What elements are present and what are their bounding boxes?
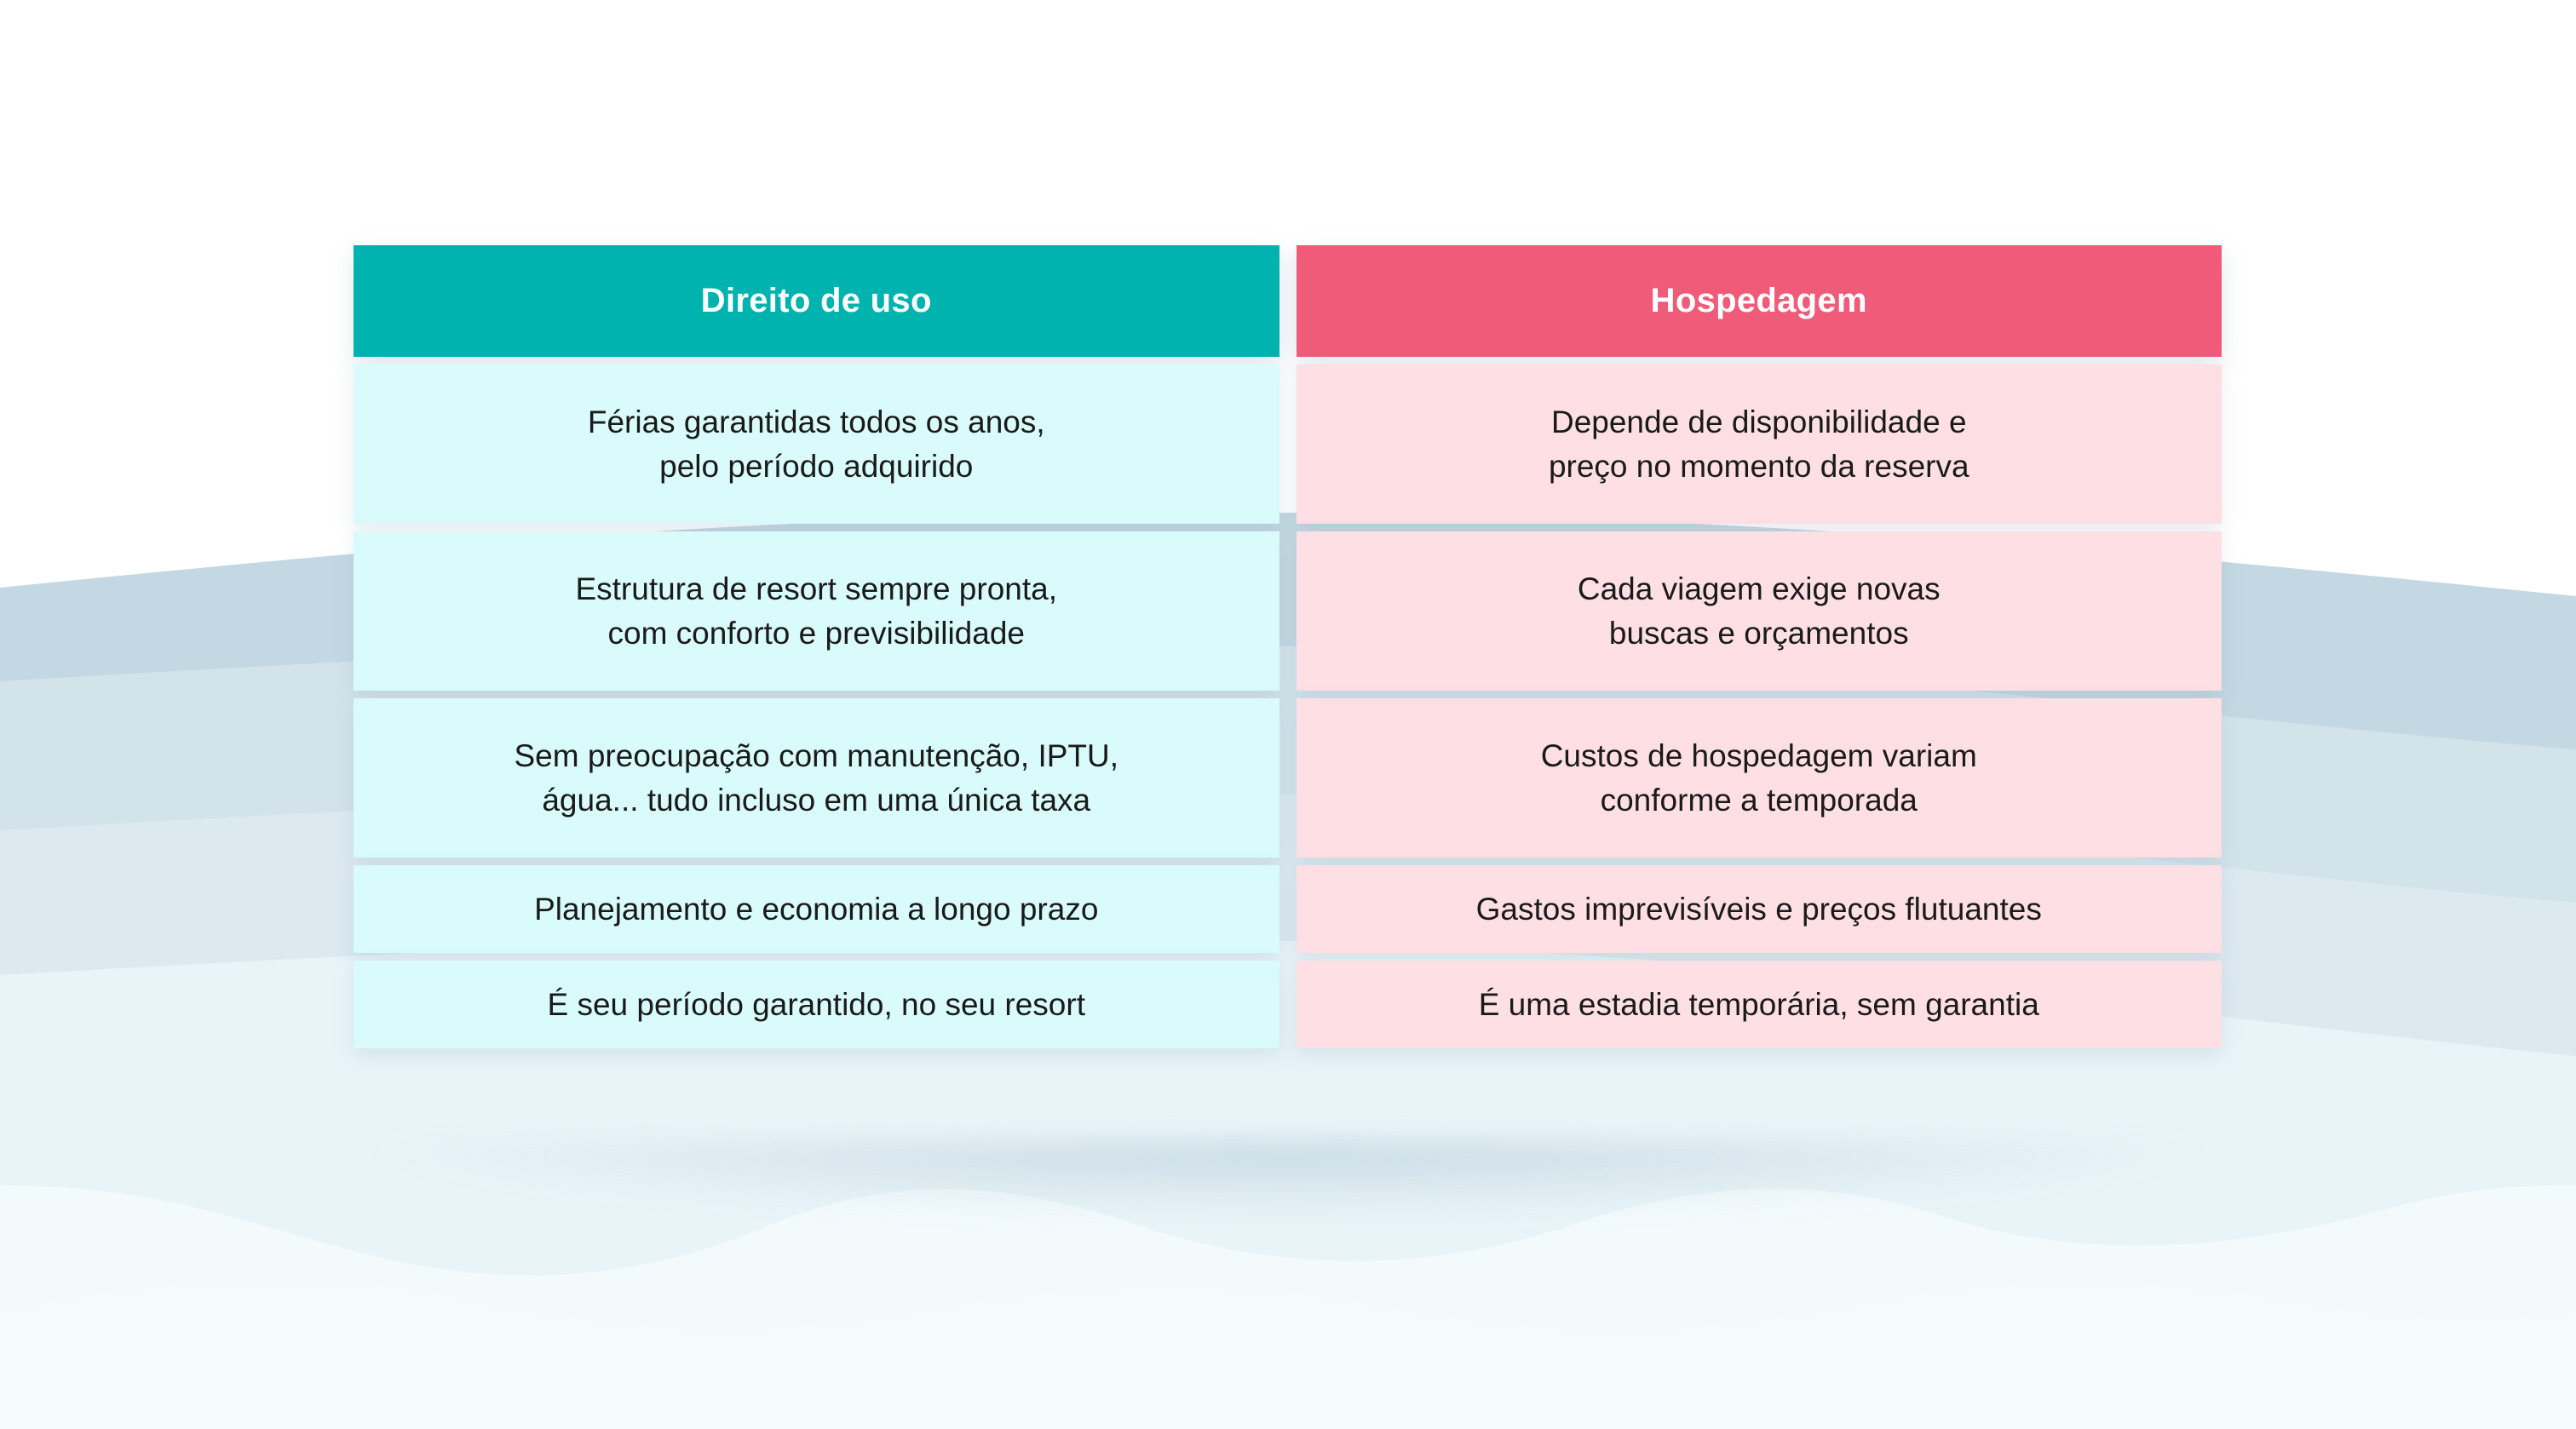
column-header-hospedagem: Hospedagem xyxy=(1297,245,2222,357)
cell-line: Depende de disponibilidade e xyxy=(1549,400,1969,444)
table-cell: Planejamento e economia a longo prazo xyxy=(354,865,1279,953)
comparison-table-page: Direito de uso Hospedagem Férias garanti… xyxy=(0,0,2576,1429)
table-cell: Estrutura de resort sempre pronta, com c… xyxy=(354,531,1279,691)
cell-line: com conforto e previsibilidade xyxy=(575,611,1057,655)
cell-line: Planejamento e economia a longo prazo xyxy=(534,887,1098,931)
comparison-table: Direito de uso Hospedagem Férias garanti… xyxy=(354,245,2222,1048)
table-cell: Férias garantidas todos os anos, pelo pe… xyxy=(354,364,1279,524)
cell-line: água... tudo incluso em uma única taxa xyxy=(514,778,1118,822)
cell-text: É seu período garantido, no seu resort xyxy=(548,983,1085,1026)
table-cell: Cada viagem exige novas buscas e orçamen… xyxy=(1297,531,2222,691)
table-cell: Gastos imprevisíveis e preços flutuantes xyxy=(1297,865,2222,953)
column-header-label: Hospedagem xyxy=(1651,282,1867,320)
wave-layer-6 xyxy=(0,1281,2576,1429)
cell-line: buscas e orçamentos xyxy=(1578,611,1941,655)
table-cell: É uma estadia temporária, sem garantia xyxy=(1297,961,2222,1048)
cell-line: preço no momento da reserva xyxy=(1549,445,1969,488)
wave-layer-5 xyxy=(0,1185,2576,1429)
column-header-direito-de-uso: Direito de uso xyxy=(354,245,1279,357)
cell-line: É seu período garantido, no seu resort xyxy=(548,983,1085,1026)
cell-text: Férias garantidas todos os anos, pelo pe… xyxy=(588,400,1045,487)
cell-line: É uma estadia temporária, sem garantia xyxy=(1479,983,2039,1026)
cell-line: Férias garantidas todos os anos, xyxy=(588,400,1045,444)
cell-text: Estrutura de resort sempre pronta, com c… xyxy=(575,567,1057,654)
cell-line: pelo período adquirido xyxy=(588,445,1045,488)
column-header-label: Direito de uso xyxy=(701,282,932,320)
table-drop-shadow xyxy=(366,1141,2211,1218)
table-cell: Sem preocupação com manutenção, IPTU, ág… xyxy=(354,698,1279,858)
cell-line: Gastos imprevisíveis e preços flutuantes xyxy=(1476,887,2042,931)
cell-text: Cada viagem exige novas buscas e orçamen… xyxy=(1578,567,1941,654)
cell-line: Custos de hospedagem variam xyxy=(1541,734,1977,778)
cell-line: Estrutura de resort sempre pronta, xyxy=(575,567,1057,611)
cell-text: Gastos imprevisíveis e preços flutuantes xyxy=(1476,887,2042,931)
table-cell: Depende de disponibilidade e preço no mo… xyxy=(1297,364,2222,524)
table-cell: É seu período garantido, no seu resort xyxy=(354,961,1279,1048)
cell-line: Sem preocupação com manutenção, IPTU, xyxy=(514,734,1118,778)
cell-text: É uma estadia temporária, sem garantia xyxy=(1479,983,2039,1026)
table-cell: Custos de hospedagem variam conforme a t… xyxy=(1297,698,2222,858)
table-grid: Direito de uso Hospedagem Férias garanti… xyxy=(354,245,2222,1048)
cell-text: Sem preocupação com manutenção, IPTU, ág… xyxy=(514,734,1118,821)
cell-text: Depende de disponibilidade e preço no mo… xyxy=(1549,400,1969,487)
cell-line: conforme a temporada xyxy=(1541,778,1977,822)
cell-text: Custos de hospedagem variam conforme a t… xyxy=(1541,734,1977,821)
cell-text: Planejamento e economia a longo prazo xyxy=(534,887,1098,931)
cell-line: Cada viagem exige novas xyxy=(1578,567,1941,611)
